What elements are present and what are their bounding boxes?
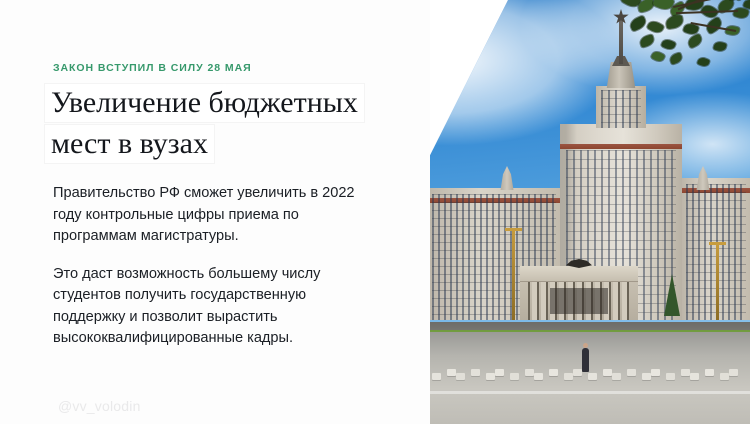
paragraph-1: Правительство РФ сможет увеличить в 2022… [53, 183, 375, 248]
eyebrow-label: ЗАКОН ВСТУПИЛ В СИЛУ 28 МАЯ [53, 62, 252, 74]
pedestrian [582, 348, 589, 372]
overhanging-foliage [610, 0, 750, 94]
text-panel: ЗАКОН ВСТУПИЛ В СИЛУ 28 МАЯ Увеличение б… [0, 0, 430, 424]
portico-shadow [550, 288, 608, 314]
body-copy: Правительство РФ сможет увеличить в 2022… [53, 183, 375, 350]
watermark-handle: @vv_volodin [58, 398, 141, 414]
colonnade-portico [520, 266, 638, 320]
headline-line-1: Увеличение бюджетных [45, 84, 364, 122]
window-grid [601, 90, 641, 128]
page-title: Увеличение бюджетных мест в вузах [45, 84, 375, 163]
social-card: ЗАКОН ВСТУПИЛ В СИЛУ 28 МАЯ Увеличение б… [0, 0, 750, 424]
lamp-post [512, 228, 515, 320]
pediment [520, 266, 638, 282]
cornice-band [560, 144, 682, 149]
paragraph-2: Это даст возможность большему числу студ… [53, 264, 375, 350]
lamp-post [716, 242, 719, 320]
headline-line-2: мест в вузах [45, 125, 214, 163]
